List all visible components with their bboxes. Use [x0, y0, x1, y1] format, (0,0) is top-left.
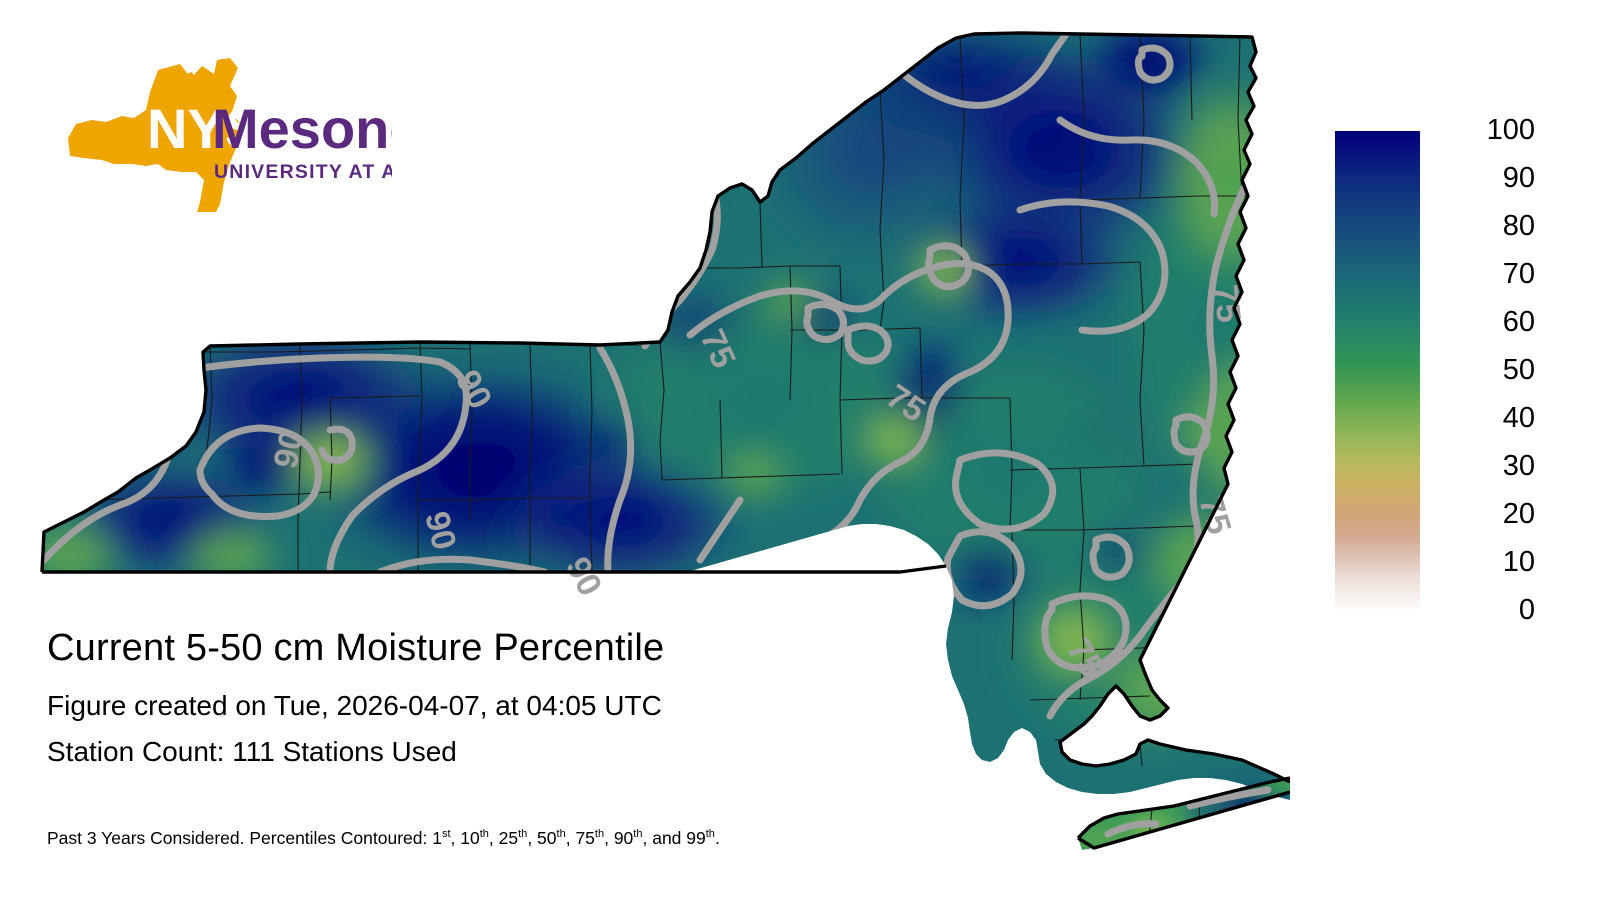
colorbar-tick-labels: 100 90 80 70 60 50 40 30 20 10 0 [1427, 125, 1575, 620]
colorbar-tick-40: 40 [1427, 404, 1535, 433]
colorbar-tick-100: 100 [1427, 116, 1535, 145]
colorbar-tick-80: 80 [1427, 212, 1535, 241]
colorbar-tick-50: 50 [1427, 356, 1535, 385]
footnote-prefix: Past 3 Years Considered. Percentiles Con… [47, 828, 432, 848]
caption-block: Current 5-50 cm Moisture Percentile Figu… [47, 625, 1047, 775]
colorbar-tick-0: 0 [1427, 596, 1535, 625]
figure-footnote: Past 3 Years Considered. Percentiles Con… [47, 828, 720, 849]
figure-created-timestamp: Figure created on Tue, 2026-04-07, at 04… [47, 683, 1047, 729]
station-count-text: Station Count: 111 Stations Used [47, 729, 1047, 775]
colorbar-tick-30: 30 [1427, 452, 1535, 481]
colorbar-tick-60: 60 [1427, 308, 1535, 337]
colorbar-gradient [1335, 131, 1420, 609]
figure-title: Current 5-50 cm Moisture Percentile [47, 625, 1047, 671]
colorbar-tick-20: 20 [1427, 500, 1535, 529]
colorbar-tick-70: 70 [1427, 260, 1535, 289]
colorbar-tick-10: 10 [1427, 548, 1535, 577]
colorbar-tick-90: 90 [1427, 164, 1535, 193]
colorbar: 100 90 80 70 60 50 40 30 20 10 0 [1335, 125, 1575, 620]
footnote-percentile-list: 1st, 10th, 25th, 50th, 75th, 90th, and 9… [432, 828, 720, 848]
contour-label-90d: 90 [267, 427, 312, 472]
